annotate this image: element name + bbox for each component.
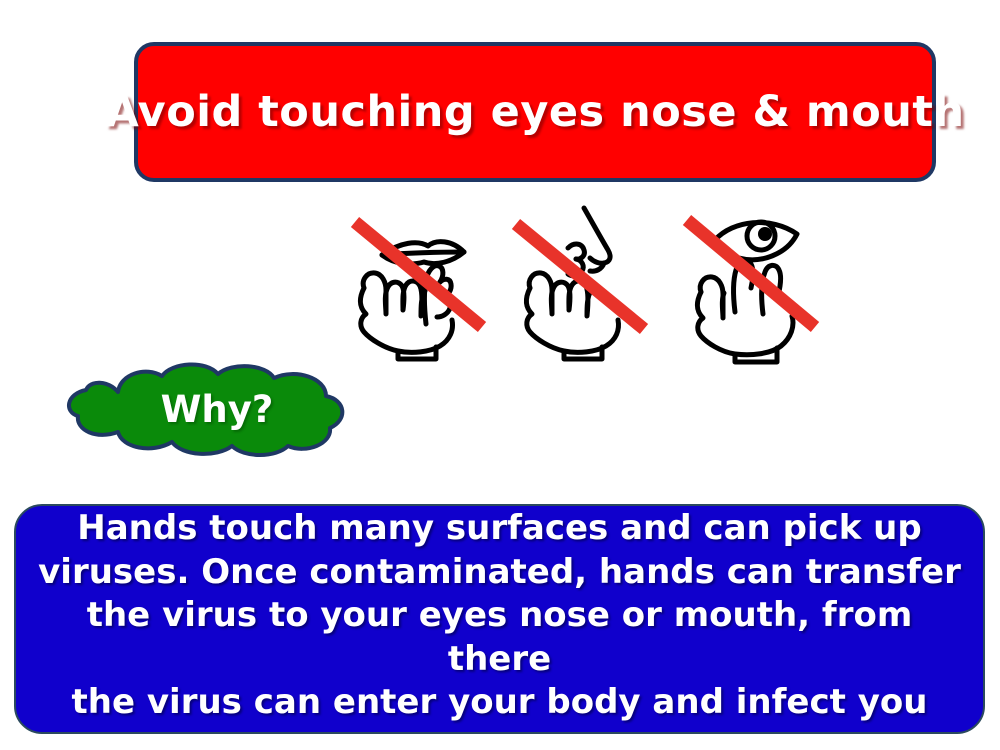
page-title: Avoid touching eyes nose & mouth [105, 87, 964, 137]
title-banner: Avoid touching eyes nose & mouth [134, 42, 936, 182]
explanation-box: Hands touch many surfaces and can pick u… [14, 504, 985, 734]
no-touch-icon-row [340, 196, 830, 366]
why-callout: Why? [60, 358, 352, 460]
no-touch-mouth-icon [340, 196, 495, 366]
explanation-text: Hands touch many surfaces and can pick u… [34, 507, 965, 725]
no-touch-eye-icon [675, 196, 830, 366]
no-touch-nose-icon [508, 196, 663, 366]
